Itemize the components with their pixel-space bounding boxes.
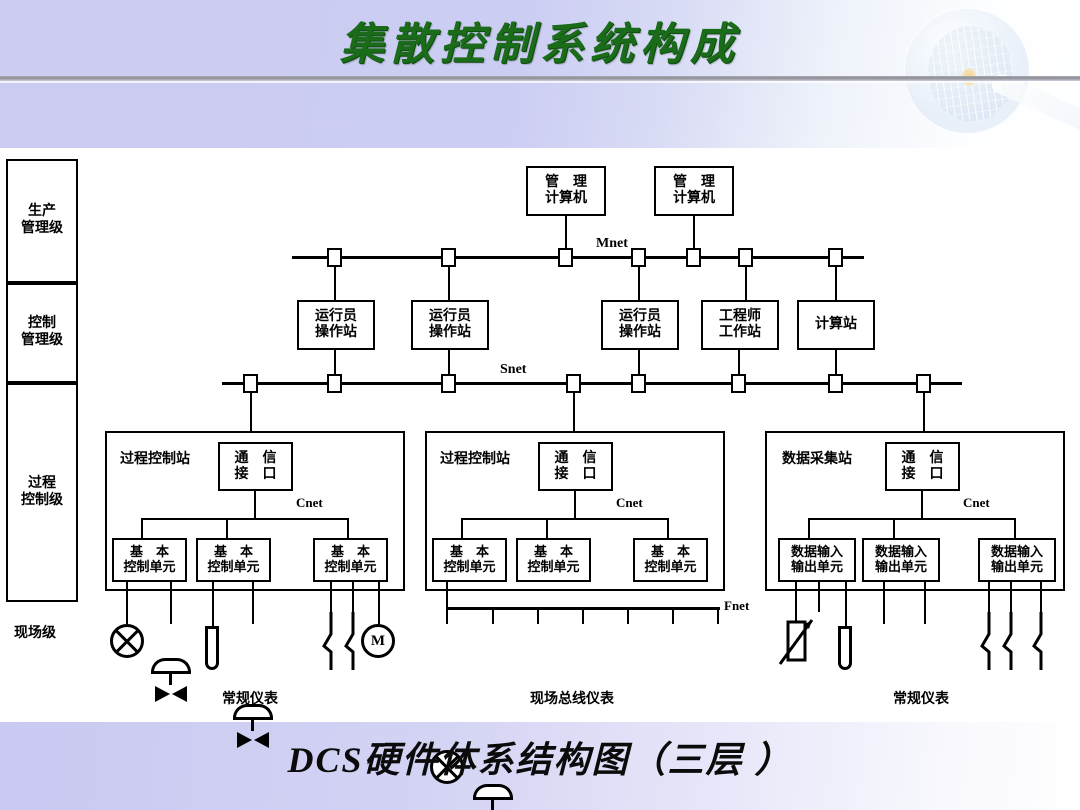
bus-label-mnet: Mnet [596, 236, 628, 252]
valve-actuator-icon-2-1 [473, 784, 513, 810]
mnet-node-3 [558, 248, 573, 267]
bcu-2-3-line2: 控制单元 [644, 560, 696, 575]
link-cnet2-u2 [546, 518, 548, 538]
bcu-2-3-line1: 基 本 [651, 545, 690, 560]
field-drop-1-6 [352, 582, 354, 612]
probe-icon-3-1 [838, 626, 852, 670]
sidebar-item-control-management[interactable]: 控制管理级 [6, 283, 78, 383]
link-bcu21-fnet [446, 582, 448, 608]
operator-station-1-line1: 运行员 [315, 309, 357, 325]
snet-node-2 [327, 374, 342, 393]
comm-interface-1-line1: 通 信 [235, 451, 277, 467]
bcu-1-3-line2: 控制单元 [324, 560, 376, 575]
box-comm-interface-1[interactable]: 通 信 接 口 [218, 442, 293, 491]
fnet-drop-4 [582, 607, 584, 624]
link-cnet3-u3 [1014, 518, 1016, 538]
field-drop-1-3 [212, 582, 214, 626]
field-drop-3-4 [883, 582, 885, 624]
operator-station-2-line1: 运行员 [429, 309, 471, 325]
dio-3-line2: 输出单元 [991, 560, 1043, 575]
bus-mnet [292, 256, 864, 259]
box-management-computer-1[interactable]: 管 理 计算机 [526, 166, 606, 216]
title-process-control-station-1: 过程控制站 [120, 448, 190, 468]
slide-root: 集散控制系统构成 生产管理级 控制管理级 过程控制级 现场级 管 理 计算机 管… [0, 0, 1080, 810]
link-cnet3-u1 [808, 518, 810, 538]
link-ci2-cnet [574, 491, 576, 518]
header-divider-highlight [0, 81, 1080, 83]
link-cnet3-u2 [893, 518, 895, 538]
link-mnet-eng [745, 267, 747, 300]
bcu-1-3-line1: 基 本 [331, 545, 370, 560]
dio-1-line2: 输出单元 [791, 560, 843, 575]
sidebar-item-production-management[interactable]: 生产管理级 [6, 159, 78, 283]
box-basic-control-unit-2-1[interactable]: 基 本 控制单元 [432, 538, 507, 582]
page-title: 集散控制系统构成 [0, 8, 1080, 72]
dio-2-line2: 输出单元 [875, 560, 927, 575]
box-comm-interface-3[interactable]: 通 信 接 口 [885, 442, 960, 491]
management-computer-2-line2: 计算机 [673, 191, 715, 207]
snet-node-1 [243, 374, 258, 393]
box-data-io-unit-3[interactable]: 数据输入 输出单元 [978, 538, 1056, 582]
link-cnet2-u3 [667, 518, 669, 538]
box-basic-control-unit-1-2[interactable]: 基 本 控制单元 [196, 538, 271, 582]
mnet-node-1 [327, 248, 342, 267]
mnet-node-7 [828, 248, 843, 267]
comm-interface-3-line1: 通 信 [902, 451, 944, 467]
sidebar-label-production-management: 生产管理级 [21, 204, 63, 238]
field-drop-1-1 [126, 582, 128, 624]
link-snet-das [923, 393, 925, 431]
box-data-io-unit-2[interactable]: 数据输入 输出单元 [862, 538, 940, 582]
wire-break-icon-1 [322, 612, 366, 670]
box-basic-control-unit-2-3[interactable]: 基 本 控制单元 [633, 538, 708, 582]
link-ci3-cnet [921, 491, 923, 518]
box-operator-station-3[interactable]: 运行员 操作站 [601, 300, 679, 350]
link-mnet-op3 [638, 267, 640, 300]
bus-cnet-1 [141, 518, 349, 520]
field-drop-3-7 [1010, 582, 1012, 612]
wire-break-icon-3 [980, 612, 1050, 670]
field-drop-1-2 [170, 582, 172, 624]
link-cnet1-u1 [141, 518, 143, 538]
bus-label-snet: Snet [500, 362, 526, 378]
snet-node-8 [916, 374, 931, 393]
dcs-architecture-diagram: 生产管理级 控制管理级 过程控制级 现场级 管 理 计算机 管 理 计算机 Mn… [0, 148, 1080, 722]
field-drop-3-2 [818, 582, 820, 612]
comm-interface-3-line2: 接 口 [902, 467, 944, 483]
box-management-computer-2[interactable]: 管 理 计算机 [654, 166, 734, 216]
link-snet-pcs2 [573, 393, 575, 431]
bus-label-cnet-1: Cnet [296, 495, 323, 511]
dio-3-line1: 数据输入 [991, 545, 1043, 560]
title-process-control-station-2: 过程控制站 [440, 448, 510, 468]
bcu-2-1-line2: 控制单元 [443, 560, 495, 575]
field-drop-3-5 [924, 582, 926, 624]
mnet-node-6 [738, 248, 753, 267]
snet-node-6 [731, 374, 746, 393]
field-group-label-1: 常规仪表 [222, 688, 278, 708]
bcu-1-1-line1: 基 本 [130, 545, 169, 560]
sidebar-label-process-control: 过程控制级 [21, 476, 63, 510]
field-group-label-2: 现场总线仪表 [530, 688, 614, 708]
engineer-workstation-line2: 工作站 [719, 325, 761, 341]
fnet-drop-2 [492, 607, 494, 624]
bcu-2-2-line2: 控制单元 [527, 560, 579, 575]
sidebar-label-control-management: 控制管理级 [21, 316, 63, 350]
field-drop-3-3 [845, 582, 847, 626]
dio-2-line1: 数据输入 [875, 545, 927, 560]
link-mnet-op1 [334, 267, 336, 300]
link-ci1-cnet [254, 491, 256, 518]
operator-station-3-line1: 运行员 [619, 309, 661, 325]
bus-cnet-3 [808, 518, 1016, 520]
operator-station-2-line2: 操作站 [429, 325, 471, 341]
comm-interface-2-line1: 通 信 [555, 451, 597, 467]
fnet-drop-3 [537, 607, 539, 624]
fnet-drop-5 [627, 607, 629, 624]
field-drop-1-7 [378, 582, 380, 624]
comm-interface-2-line2: 接 口 [555, 467, 597, 483]
box-basic-control-unit-2-2[interactable]: 基 本 控制单元 [516, 538, 591, 582]
operator-station-3-line2: 操作站 [619, 325, 661, 341]
field-drop-1-5 [330, 582, 332, 612]
bcu-1-2-line2: 控制单元 [207, 560, 259, 575]
field-level-label: 现场级 [14, 622, 56, 642]
bcu-1-1-line2: 控制单元 [123, 560, 175, 575]
bus-label-fnet: Fnet [724, 598, 749, 614]
motor-symbol: M [371, 633, 385, 650]
bus-label-cnet-2: Cnet [616, 495, 643, 511]
management-computer-1-line1: 管 理 [545, 175, 587, 191]
box-basic-control-unit-1-3[interactable]: 基 本 控制单元 [313, 538, 388, 582]
snet-node-7 [828, 374, 843, 393]
mnet-node-5 [686, 248, 701, 267]
snet-node-3 [441, 374, 456, 393]
mnet-node-2 [441, 248, 456, 267]
sidebar-item-process-control[interactable]: 过程控制级 [6, 383, 78, 602]
fnet-drop-6 [672, 607, 674, 624]
field-drop-3-6 [988, 582, 990, 612]
management-computer-1-line2: 计算机 [545, 191, 587, 207]
figure-caption: DCS硬件体系结构图（三层 ） [0, 731, 1080, 783]
bus-label-cnet-3: Cnet [963, 495, 990, 511]
probe-icon-1-1 [205, 626, 219, 670]
snet-node-5 [631, 374, 646, 393]
variable-resistor-icon [778, 614, 834, 674]
computing-station-line1: 计算站 [815, 317, 857, 333]
box-operator-station-1[interactable]: 运行员 操作站 [297, 300, 375, 350]
comm-interface-1-line2: 接 口 [235, 467, 277, 483]
box-engineer-workstation[interactable]: 工程师 工作站 [701, 300, 779, 350]
title-data-acquisition-station: 数据采集站 [782, 448, 852, 468]
bus-cnet-2 [461, 518, 669, 520]
engineer-workstation-line1: 工程师 [719, 309, 761, 325]
valve-body-icon [153, 684, 189, 704]
motor-icon-1: M [361, 624, 395, 658]
box-comm-interface-2[interactable]: 通 信 接 口 [538, 442, 613, 491]
bcu-2-1-line1: 基 本 [450, 545, 489, 560]
snet-node-4 [566, 374, 581, 393]
link-snet-pcs1 [250, 393, 252, 431]
link-cnet1-u3 [347, 518, 349, 538]
link-mnet-calc [835, 267, 837, 300]
box-basic-control-unit-1-1[interactable]: 基 本 控制单元 [112, 538, 187, 582]
operator-station-1-line2: 操作站 [315, 325, 357, 341]
box-data-io-unit-1[interactable]: 数据输入 输出单元 [778, 538, 856, 582]
management-computer-2-line1: 管 理 [673, 175, 715, 191]
fnet-drop-1 [446, 607, 448, 624]
fnet-drop-7 [717, 607, 719, 624]
link-mnet-op2 [448, 267, 450, 300]
bcu-1-2-line1: 基 本 [214, 545, 253, 560]
link-cnet1-u2 [226, 518, 228, 538]
box-computing-station[interactable]: 计算站 [797, 300, 875, 350]
link-cnet2-u1 [461, 518, 463, 538]
field-group-label-3: 常规仪表 [893, 688, 949, 708]
box-operator-station-2[interactable]: 运行员 操作站 [411, 300, 489, 350]
mnet-node-4 [631, 248, 646, 267]
field-drop-3-8 [1040, 582, 1042, 612]
valve-actuator-icon-1-1 [151, 658, 191, 704]
bcu-2-2-line1: 基 本 [534, 545, 573, 560]
dio-1-line1: 数据输入 [791, 545, 843, 560]
sensor-icon-1-1 [110, 624, 144, 658]
field-drop-1-4 [252, 582, 254, 624]
